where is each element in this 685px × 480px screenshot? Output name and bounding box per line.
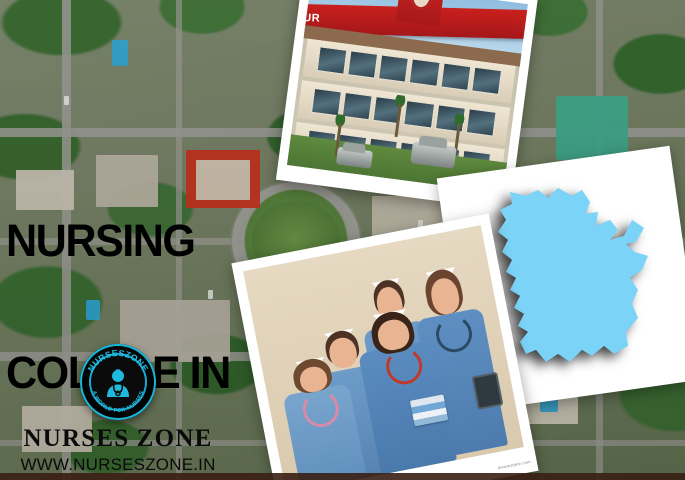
photo-watermark: dreamstime.com [497, 459, 531, 470]
poster-canvas: NURSING COLEGE IN CHANDIGARH AUR CO [0, 0, 685, 480]
headline-line-1: NURSING [6, 219, 286, 263]
brand-name: NURSES ZONE [18, 425, 218, 453]
nursing-students-polaroid[interactable]: dreamstime.com [231, 213, 538, 480]
brand-url: WWW.NURSESZONE.IN [18, 455, 218, 475]
nurse-with-stethoscope-icon [101, 367, 135, 401]
brand-block: NURSESZONE A WORLD FOR NURSES NURSES ZON… [18, 344, 218, 475]
nurseszone-logo-badge[interactable]: NURSESZONE A WORLD FOR NURSES [80, 344, 156, 420]
building-illustration: AUR CO [287, 0, 528, 193]
bottom-strip [0, 473, 685, 480]
nursing-students-photo [243, 225, 524, 480]
signage-text-left: AUR [294, 12, 320, 25]
college-building-photo: AUR CO [287, 0, 528, 193]
